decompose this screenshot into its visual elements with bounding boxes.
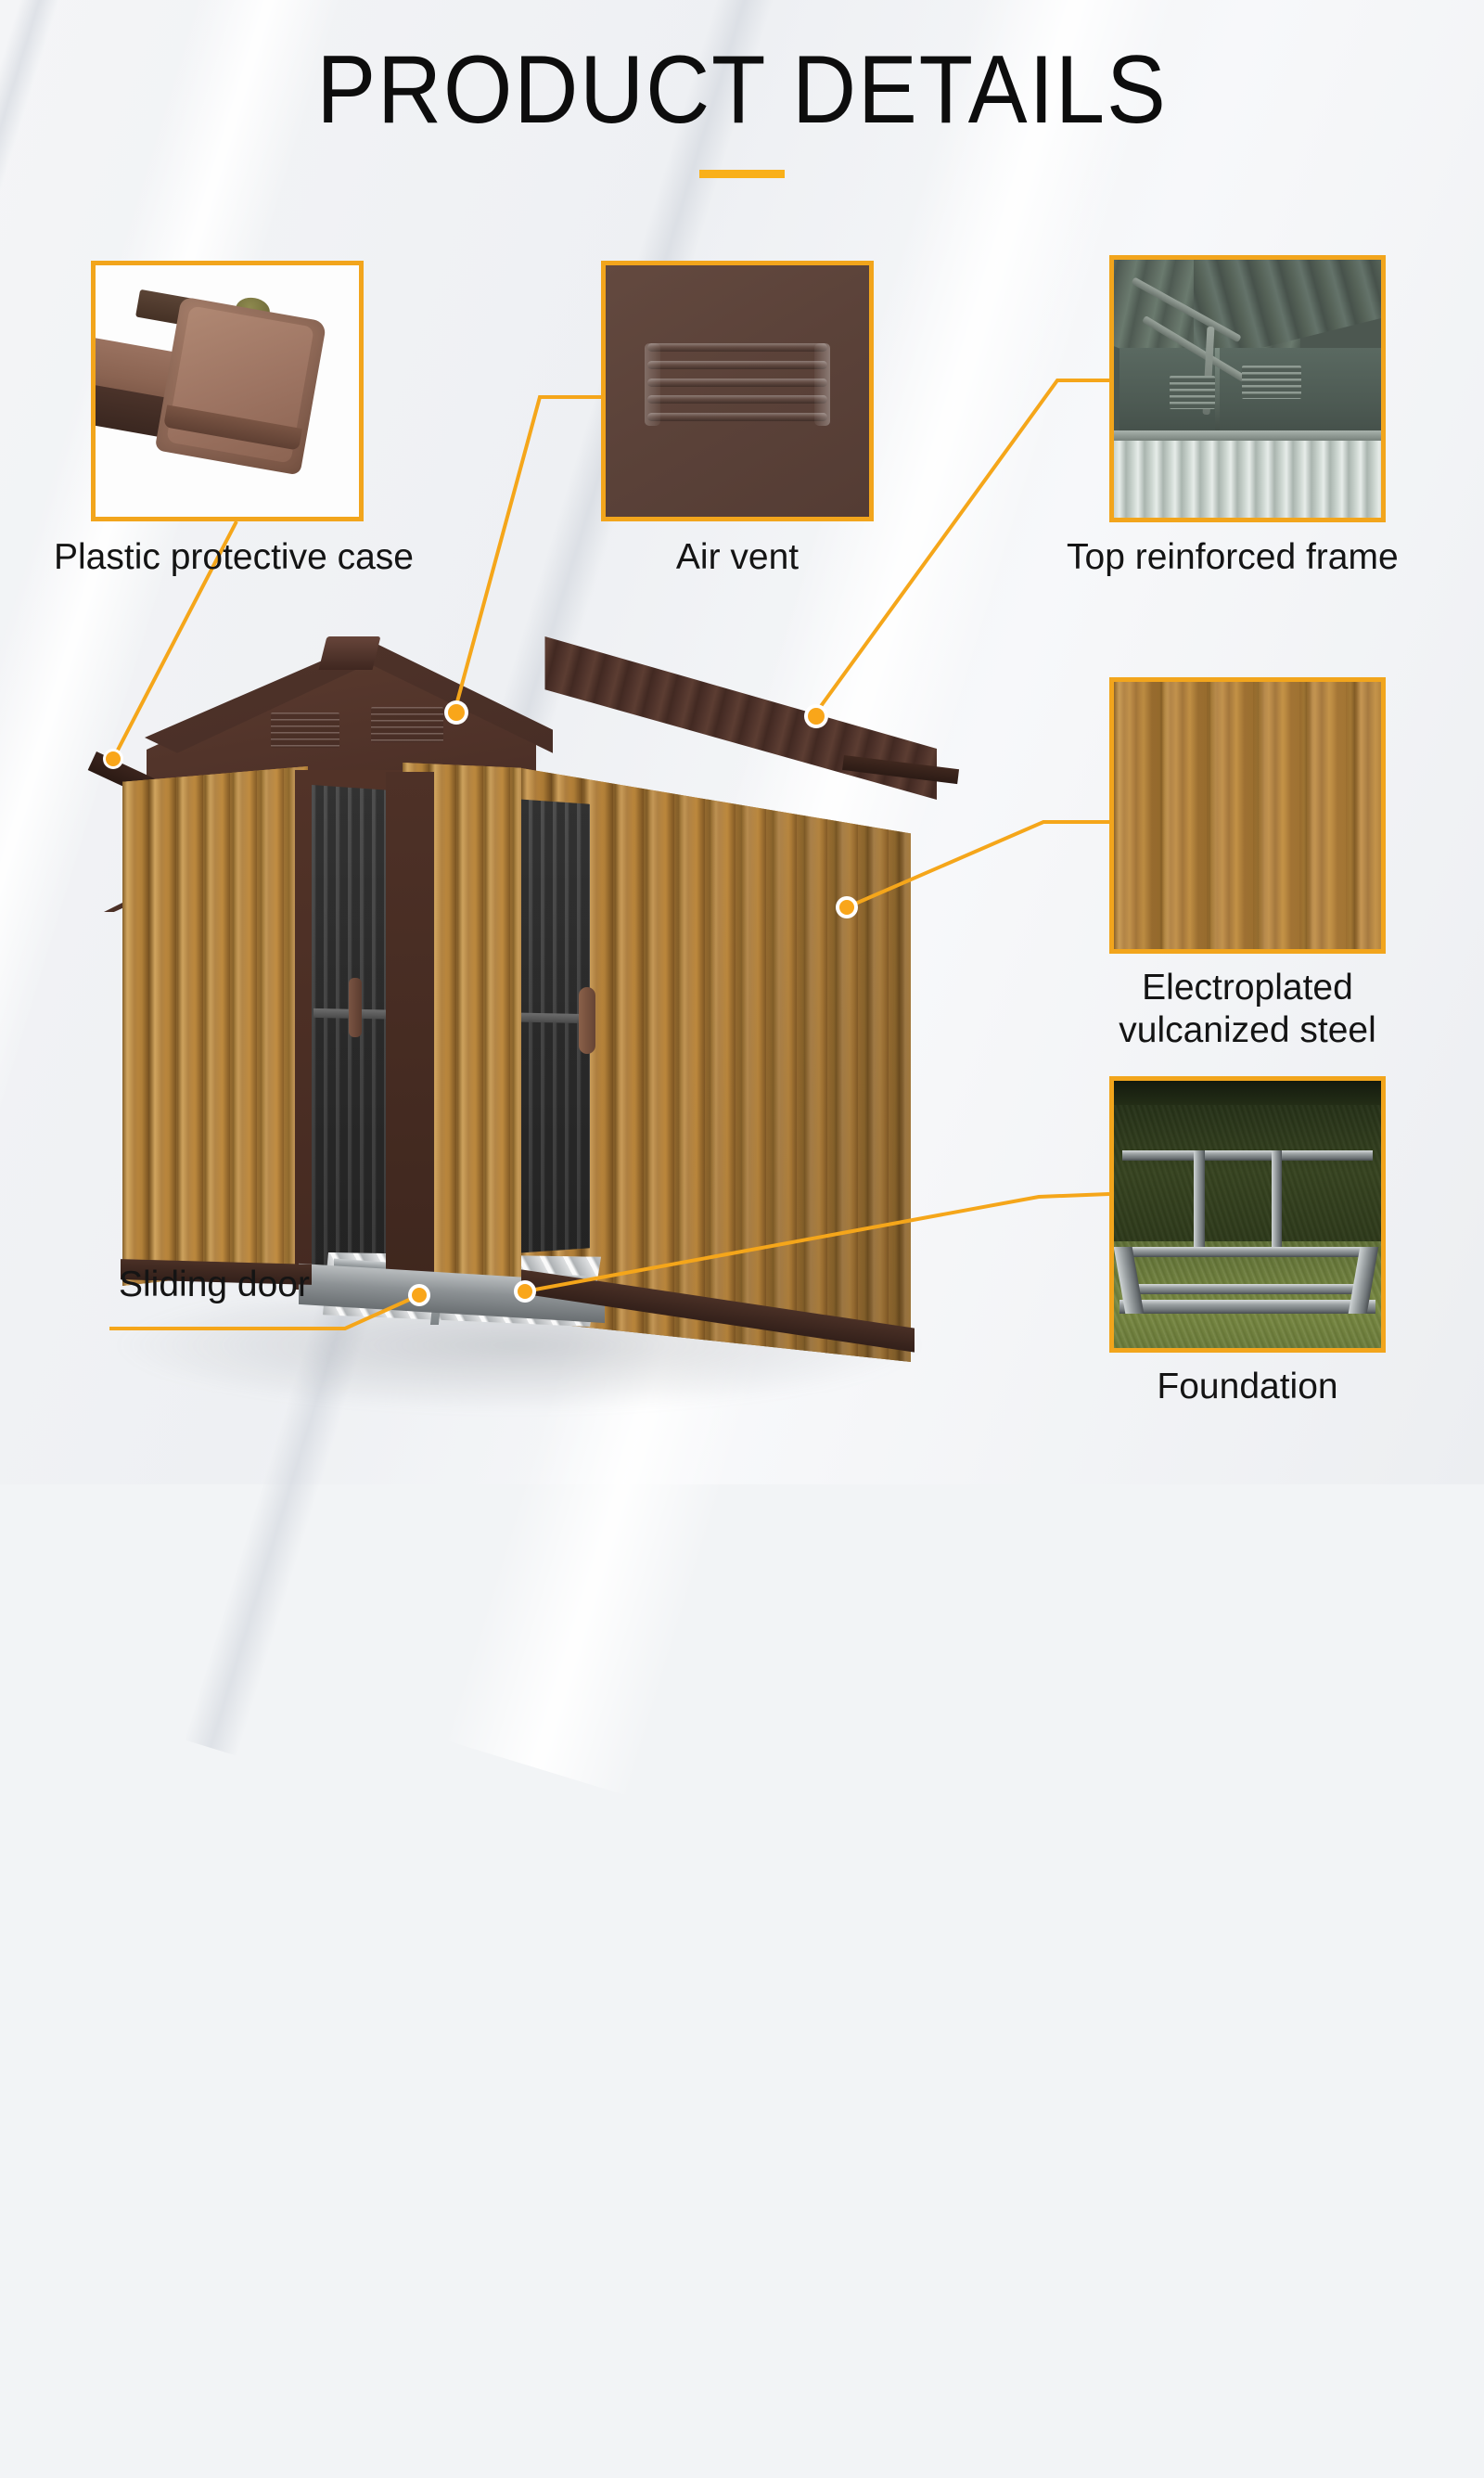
foundation-beam-middle: [1119, 1247, 1375, 1258]
photo-plastic-protective-case: [96, 265, 359, 517]
gable-vent-left: [271, 713, 339, 748]
grass-lit: [1114, 1241, 1381, 1348]
vent-slat-5: [647, 413, 826, 421]
photo-foundation: [1114, 1081, 1381, 1348]
title-accent-bar: [699, 170, 785, 178]
callout-card-top-reinforced-frame[interactable]: [1109, 255, 1386, 522]
callout-card-electroplated-vulcanized-steel[interactable]: [1109, 677, 1386, 954]
photo-air-vent: [606, 265, 869, 517]
vent-slat-4: [647, 395, 826, 404]
wall-front-left-panel: [122, 766, 308, 1286]
callout-card-foundation[interactable]: [1109, 1076, 1386, 1353]
callout-card-plastic-protective-case[interactable]: [91, 261, 364, 521]
vent-slat-1: [647, 343, 826, 352]
callout-label-foundation: Foundation: [1109, 1366, 1386, 1408]
header: PRODUCT DETAILS: [0, 0, 1484, 178]
door-panel-right: [386, 772, 434, 1288]
galvanized-wall: [1114, 441, 1381, 518]
foundation-beam-inner-front: [1130, 1284, 1367, 1295]
photo-top-reinforced-frame: [1114, 260, 1381, 518]
vent-end-cap-left: [645, 343, 660, 426]
foundation-beam-vertical-right: [1272, 1150, 1283, 1257]
vent-grill: [647, 343, 826, 426]
grass-shadowed: [1114, 1081, 1381, 1247]
foundation-beam-rear: [1122, 1150, 1374, 1162]
door-handle-left[interactable]: [349, 978, 362, 1037]
door-handle-right[interactable]: [579, 987, 595, 1054]
foundation-beam-front: [1119, 1300, 1375, 1313]
callout-label-plastic-protective-case: Plastic protective case: [54, 536, 453, 579]
photo-electroplated-vulcanized-steel: [1114, 682, 1381, 949]
grass-top-dark: [1114, 1081, 1381, 1105]
page-title: PRODUCT DETAILS: [59, 35, 1425, 146]
roof-ridge-cap: [319, 636, 381, 670]
interior-vent-left: [1170, 376, 1215, 409]
callout-label-air-vent: Air vent: [601, 536, 874, 579]
vent-slat-2: [647, 361, 826, 369]
interior-vent-right: [1242, 366, 1300, 399]
callout-label-electroplated-vulcanized-steel: Electroplated vulcanized steel: [1104, 967, 1391, 1052]
callout-card-air-vent[interactable]: [601, 261, 874, 521]
callout-label-top-reinforced-frame: Top reinforced frame: [1067, 536, 1438, 579]
vent-slat-3: [647, 379, 826, 387]
foundation-beam-vertical-left: [1194, 1150, 1205, 1257]
vent-end-cap-right: [814, 343, 830, 426]
gable-vent-right: [371, 707, 443, 742]
callout-label-sliding-door: Sliding door: [119, 1264, 508, 1306]
